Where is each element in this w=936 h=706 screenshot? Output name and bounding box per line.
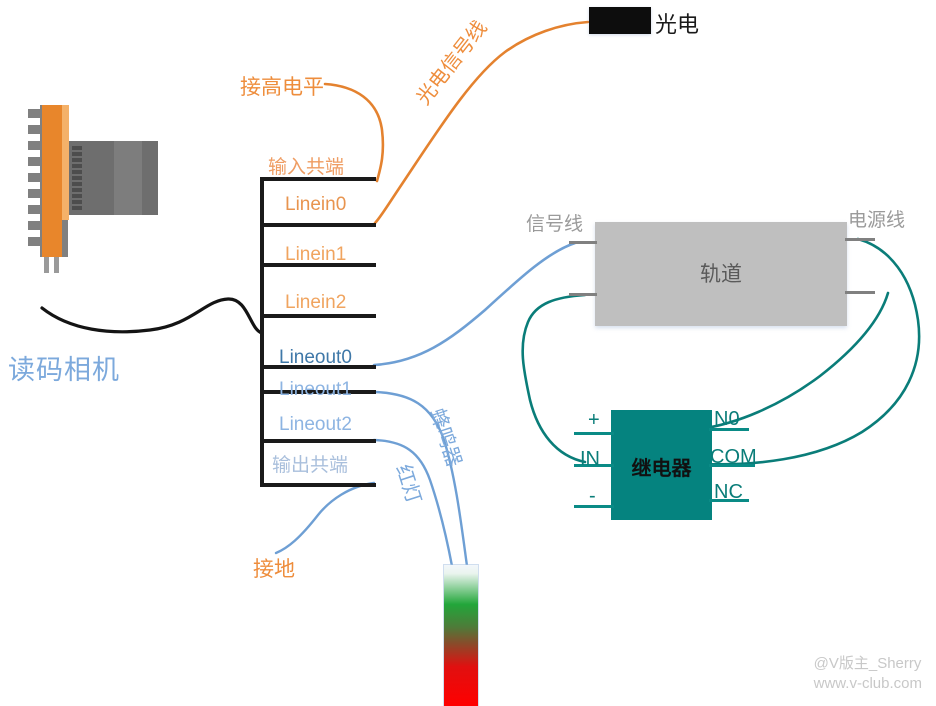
relay-pin-com: COM	[710, 446, 757, 469]
photoelectric-sensor[interactable]	[589, 7, 651, 34]
signal-line-label: 信号线	[526, 209, 583, 236]
track-lead-power-upper	[845, 238, 875, 241]
terminal-label-input-common: 输入共端	[268, 152, 344, 179]
terminal-rail	[260, 223, 376, 227]
camera-lens-mid	[114, 141, 142, 215]
terminal-label-linein0: Linein0	[285, 194, 346, 216]
buzzer-label: 蜂鸣器	[424, 404, 470, 470]
camera-connector-pin	[44, 257, 49, 273]
camera-front-panel-highlight	[62, 105, 69, 220]
photoelectric-label: 光电	[655, 7, 699, 39]
camera-label: 读码相机	[8, 348, 120, 387]
camera-front-panel	[42, 105, 62, 257]
output-common-to-ground-wire	[276, 483, 374, 553]
watermark-line-2: www.v-club.com	[814, 674, 922, 694]
watermark-line-1: @V版主_Sherry	[814, 654, 922, 674]
camera-lens-rib	[72, 164, 82, 168]
camera-cable-wire	[42, 299, 262, 333]
camera-lens-rib	[72, 188, 82, 192]
terminal-rail	[260, 314, 376, 318]
photoelectric-signal-wire	[375, 22, 588, 223]
track-to-relay-in-wire	[523, 295, 585, 462]
camera-lens-rib	[72, 182, 82, 186]
red-light-label: 红灯	[390, 460, 430, 507]
terminal-label-output-common: 输出共端	[272, 450, 348, 477]
track-lead-signal-upper	[569, 241, 597, 244]
relay-device[interactable]: 继电器	[611, 410, 712, 520]
terminal-label-lineout0: Lineout0	[279, 347, 352, 369]
camera-lens-ribs	[72, 146, 82, 210]
terminal-label-linein1: Linein1	[285, 244, 346, 266]
lineout0-to-track-signal-wire	[374, 243, 575, 365]
camera-lens-rib	[72, 170, 82, 174]
track-label: 轨道	[595, 258, 847, 288]
conveyor-track[interactable]: 轨道	[595, 222, 847, 326]
relay-pin-in: IN	[580, 448, 600, 471]
camera-lens-rib	[72, 158, 82, 162]
camera-lens-rib	[72, 146, 82, 150]
camera-connector-pin	[54, 257, 59, 273]
power-line-label: 电源线	[848, 205, 905, 232]
camera-lens-block	[69, 141, 158, 215]
relay-pin-nc: NC	[714, 481, 743, 504]
camera-lens-rib	[72, 176, 82, 180]
terminal-rail	[260, 439, 376, 443]
watermark: @V版主_Sherry www.v-club.com	[814, 654, 922, 695]
relay-label: 继电器	[611, 452, 712, 481]
camera-lens-rib	[72, 200, 82, 204]
camera-lens-rib	[72, 194, 82, 198]
ground-label: 接地	[253, 553, 295, 583]
track-lead-power-lower	[845, 291, 875, 294]
camera-lens-rib	[72, 206, 82, 210]
diagram-canvas: 读码相机 输入共端 Linein0 Linein1 Linein2 Lineou…	[0, 0, 936, 706]
relay-pin-n0: N0	[714, 408, 740, 431]
stack-light-tower[interactable]	[444, 565, 478, 706]
relay-pin-plus: +	[588, 409, 600, 432]
photoelectric-signal-wire-label: 光电信号线	[408, 13, 492, 110]
relay-lead-plus	[574, 432, 614, 435]
terminal-label-linein2: Linein2	[285, 292, 346, 314]
terminal-rail	[260, 483, 376, 487]
track-lead-signal-lower	[569, 293, 597, 296]
terminal-label-lineout1: Lineout1	[279, 379, 352, 401]
relay-pin-minus: -	[589, 485, 596, 508]
camera-lens-rib	[72, 152, 82, 156]
terminal-label-lineout2: Lineout2	[279, 414, 352, 436]
high-level-label: 接高电平	[240, 71, 324, 101]
